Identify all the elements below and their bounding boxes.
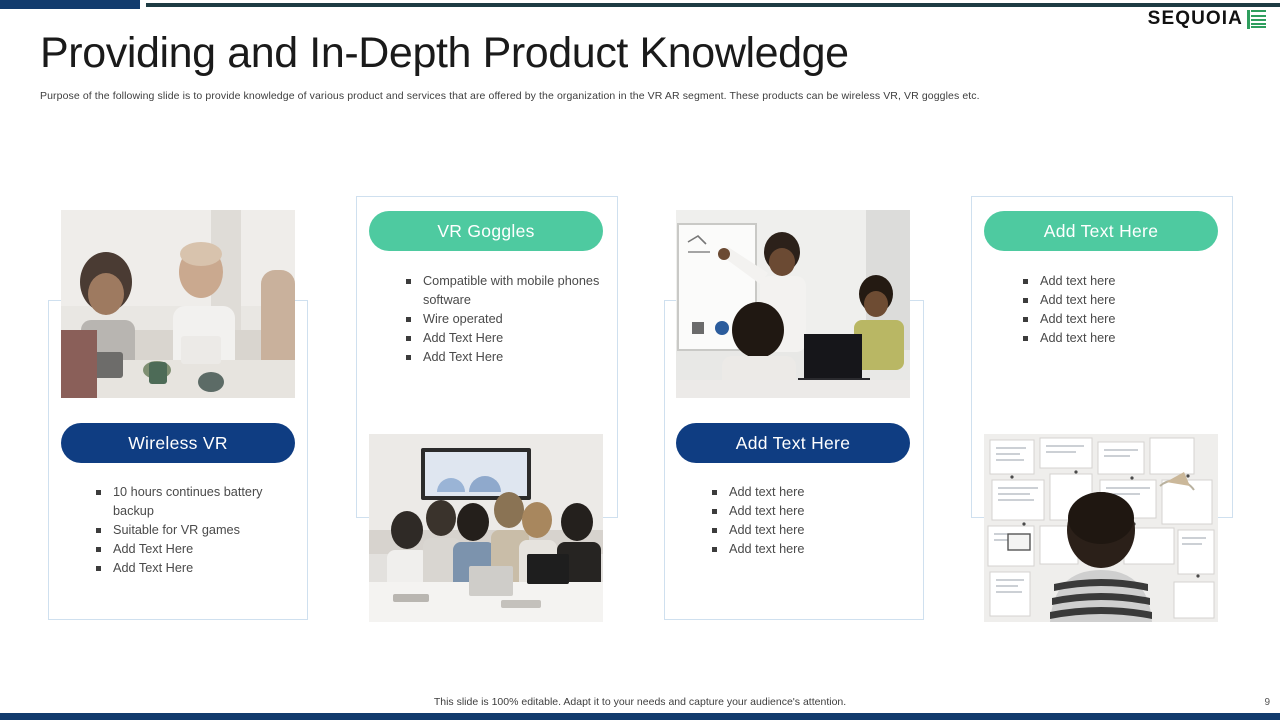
list-item: Add text here [708,502,913,521]
column-vr-goggles: VR Goggles Compatible with mobile phones… [350,190,650,640]
column-placeholder-four: Add Text Here Add text here Add text her… [965,190,1265,640]
photo-whiteboard-presentation [676,210,910,398]
column-wireless-vr: Wireless VR 10 hours continues battery b… [40,190,340,640]
bullet-list: Add text here Add text here Add text her… [708,483,913,559]
photo-office-meeting-tablets [61,210,295,398]
list-item: Add Text Here [402,329,607,348]
column-pill-wireless-vr[interactable]: Wireless VR [61,423,295,463]
list-item: Add text here [1019,291,1224,310]
list-item: 10 hours continues battery backup [92,483,297,521]
column-pill-placeholder-four[interactable]: Add Text Here [984,211,1218,251]
column-pill-placeholder-three[interactable]: Add Text Here [676,423,910,463]
list-item: Suitable for VR games [92,521,297,540]
bottom-accent-bar [0,713,1280,720]
footer-note: This slide is 100% editable. Adapt it to… [0,696,1280,708]
list-item: Compatible with mobile phones software [402,272,607,310]
bullet-list: Compatible with mobile phones software W… [402,272,607,367]
list-item: Add text here [1019,310,1224,329]
column-placeholder-three: Add Text Here Add text here Add text her… [660,190,960,640]
list-item: Add text here [708,521,913,540]
list-item: Add Text Here [92,559,297,578]
columns-container: Wireless VR 10 hours continues battery b… [0,0,1280,720]
list-item: Add text here [708,483,913,502]
bullet-list: 10 hours continues battery backup Suitab… [92,483,297,578]
photo-person-facing-idea-wall [984,434,1218,622]
list-item: Wire operated [402,310,607,329]
list-item: Add text here [1019,272,1224,291]
list-item: Add text here [1019,329,1224,348]
list-item: Add text here [708,540,913,559]
column-pill-vr-goggles[interactable]: VR Goggles [369,211,603,251]
list-item: Add Text Here [402,348,607,367]
page-number: 9 [1264,697,1270,708]
list-item: Add Text Here [92,540,297,559]
bullet-list: Add text here Add text here Add text her… [1019,272,1224,348]
photo-team-around-laptops [369,434,603,622]
